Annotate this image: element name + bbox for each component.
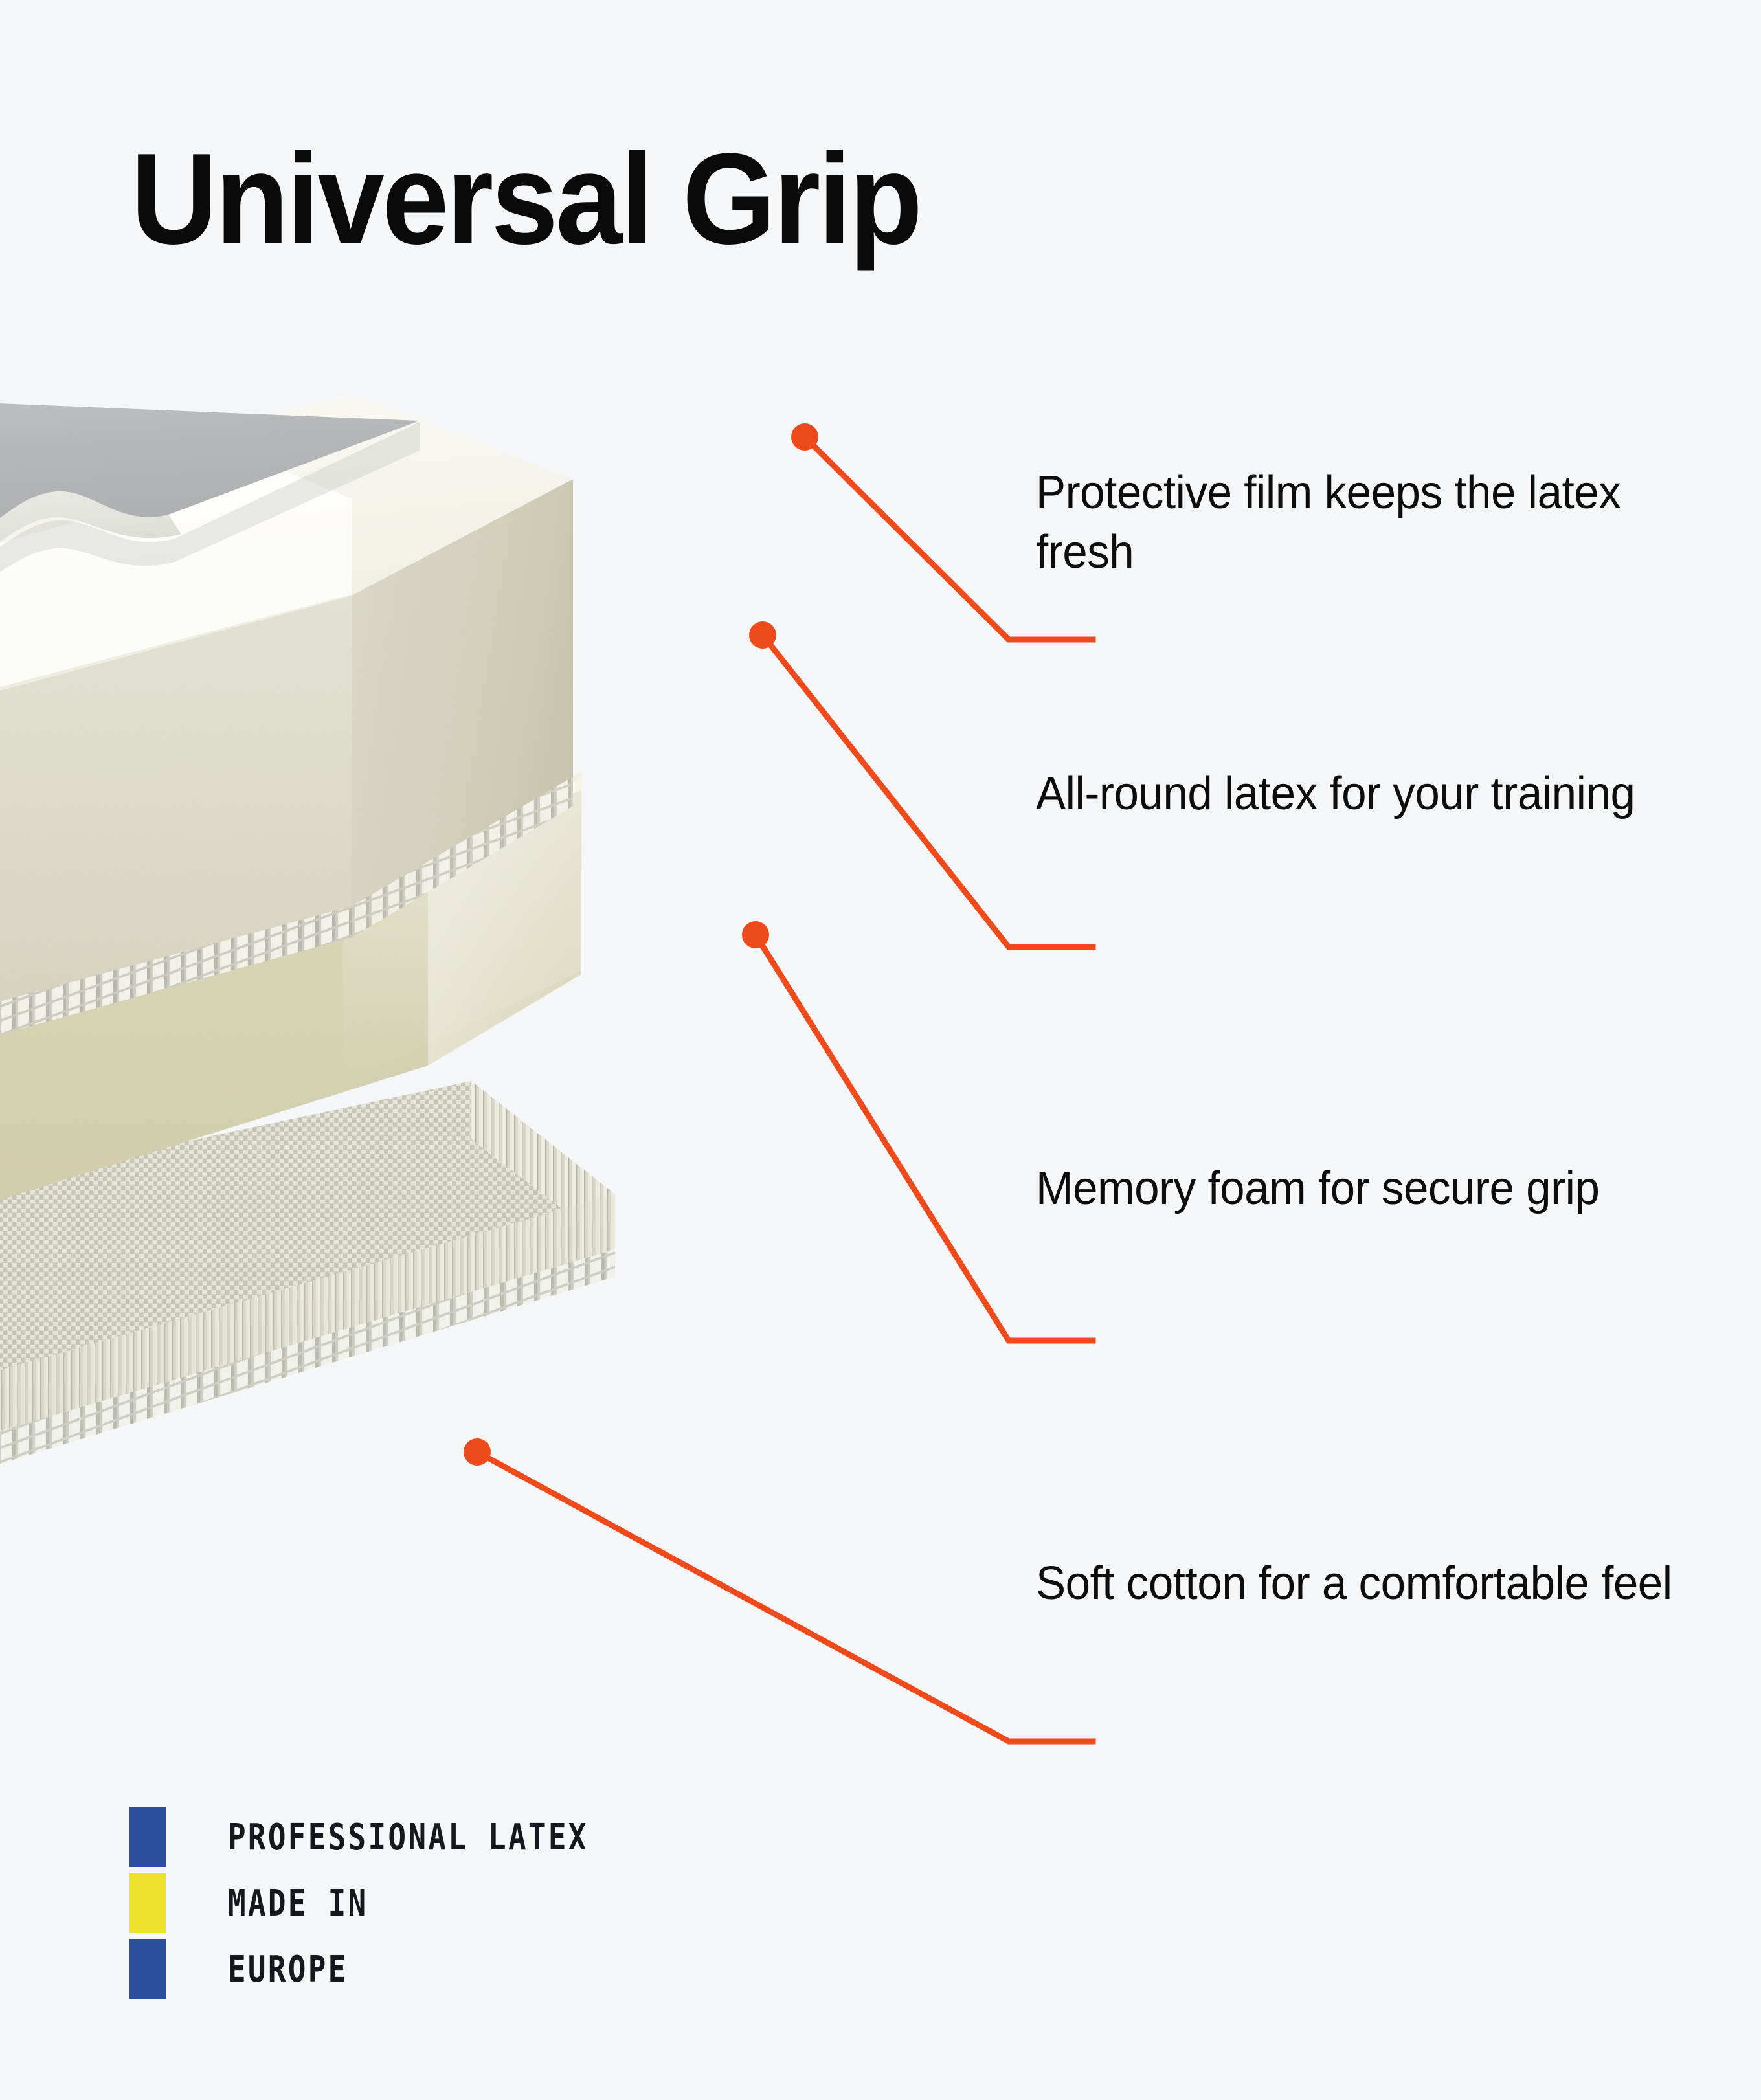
badge-swatch-blue-top [129,1807,166,1867]
layered-padding-cutaway-graphic [0,388,932,1618]
badge-swatch-yellow [129,1873,166,1933]
badge-swatch-blue-bottom [129,1939,166,1999]
callout-label-latex: All-round latex for your training [1036,764,1695,823]
callout-label-memory-foam: Memory foam for secure grip [1036,1159,1695,1218]
badge-label-made-in: MADE IN [228,1882,368,1925]
origin-badge: PROFESSIONAL LATEX MADE IN EUROPE [129,1806,667,2004]
badge-label-professional-latex: PROFESSIONAL LATEX [228,1816,589,1859]
badge-row-professional-latex: PROFESSIONAL LATEX [129,1806,667,1868]
badge-row-made-in: MADE IN [129,1872,667,1934]
poster-canvas: Universal Grip [0,0,1761,2100]
page-title: Universal Grip [131,135,920,264]
badge-label-europe: EUROPE [228,1949,348,1991]
product-illustration [0,388,932,1618]
callout-label-protective-film: Protective film keeps the latex fresh [1036,463,1695,582]
badge-row-europe: EUROPE [129,1938,667,2000]
callout-label-cotton: Soft cotton for a comfortable feel [1036,1554,1695,1613]
